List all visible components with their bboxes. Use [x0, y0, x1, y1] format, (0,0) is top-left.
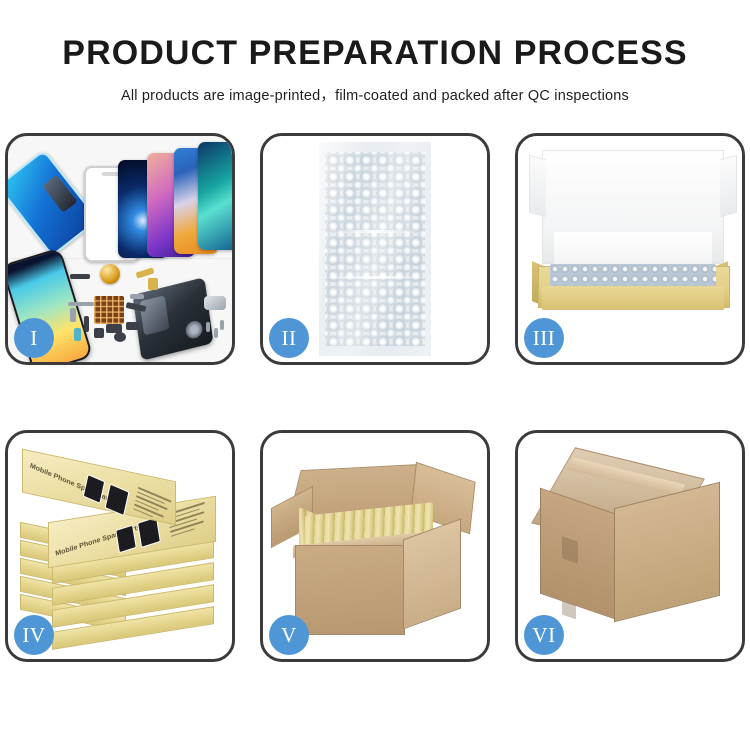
spare-part-icon: [204, 296, 226, 310]
phone-screen-teal-icon: [198, 142, 232, 250]
box-stack: Mobile Phone Spare Parts Mobi: [18, 451, 228, 641]
process-step-grid: I II III: [0, 133, 750, 662]
process-step-4: Mobile Phone Spare Parts Mobi: [5, 430, 235, 662]
step-badge-1: I: [14, 318, 54, 358]
page-header: PRODUCT PREPARATION PROCESS All products…: [0, 0, 750, 105]
kraft-tray-front: [542, 286, 724, 310]
process-step-3: III: [515, 133, 745, 365]
chip-array-icon: [94, 296, 124, 324]
bubble-wrap-sheet-icon: [319, 142, 431, 356]
process-step-6: VI: [515, 430, 745, 662]
phone-back-housing-icon: [132, 277, 213, 361]
gold-coil-icon: [100, 264, 120, 284]
screw-icon: [206, 322, 210, 332]
carton-right-face: [403, 518, 461, 629]
step-badge-2: II: [269, 318, 309, 358]
spare-part-icon: [70, 274, 90, 279]
plastic-sheen: [319, 142, 431, 356]
screw-icon: [220, 320, 224, 330]
process-step-2: II: [260, 133, 490, 365]
carton-front-face: [295, 545, 405, 635]
step-badge-3: III: [524, 318, 564, 358]
spare-part-icon: [130, 294, 144, 299]
process-step-5: V: [260, 430, 490, 662]
page-subtitle: All products are image-printed，film-coat…: [0, 72, 750, 105]
spare-part-icon: [126, 322, 139, 330]
spare-part-icon: [68, 302, 94, 306]
spare-part-icon: [94, 328, 104, 338]
spare-part-icon: [84, 316, 89, 332]
step-badge-4: IV: [14, 615, 54, 655]
screw-icon: [214, 328, 218, 338]
spare-part-icon: [148, 278, 158, 290]
step-badge-6: VI: [524, 615, 564, 655]
spare-part-icon: [74, 328, 81, 341]
spare-part-icon: [136, 267, 155, 278]
step-badge-5: V: [269, 615, 309, 655]
spare-part-icon: [114, 332, 126, 342]
page-title: PRODUCT PREPARATION PROCESS: [0, 0, 750, 72]
spare-part-icon: [70, 308, 76, 322]
process-step-1: I: [5, 133, 235, 365]
